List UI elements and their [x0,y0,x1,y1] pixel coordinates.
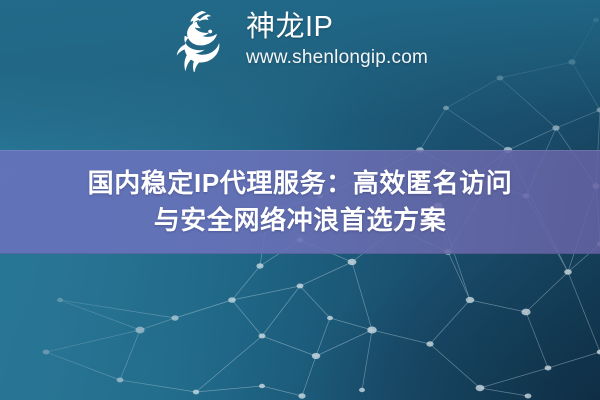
title-band: 国内稳定IP代理服务：高效匿名访问 与安全网络冲浪首选方案 [0,150,600,254]
brand-name: 神龙IP [246,13,428,42]
brand-url: www.shenlongip.com [246,48,428,67]
title-line-1: 国内稳定IP代理服务：高效匿名访问 [88,165,513,202]
brand-logo: 神龙IP www.shenlongip.com [0,4,600,76]
brand-text: 神龙IP www.shenlongip.com [246,13,428,67]
promo-banner: 神龙IP www.shenlongip.com 国内稳定IP代理服务：高效匿名访… [0,0,600,400]
title-line-2: 与安全网络冲浪首选方案 [154,202,447,239]
dragon-head-icon [172,8,234,72]
